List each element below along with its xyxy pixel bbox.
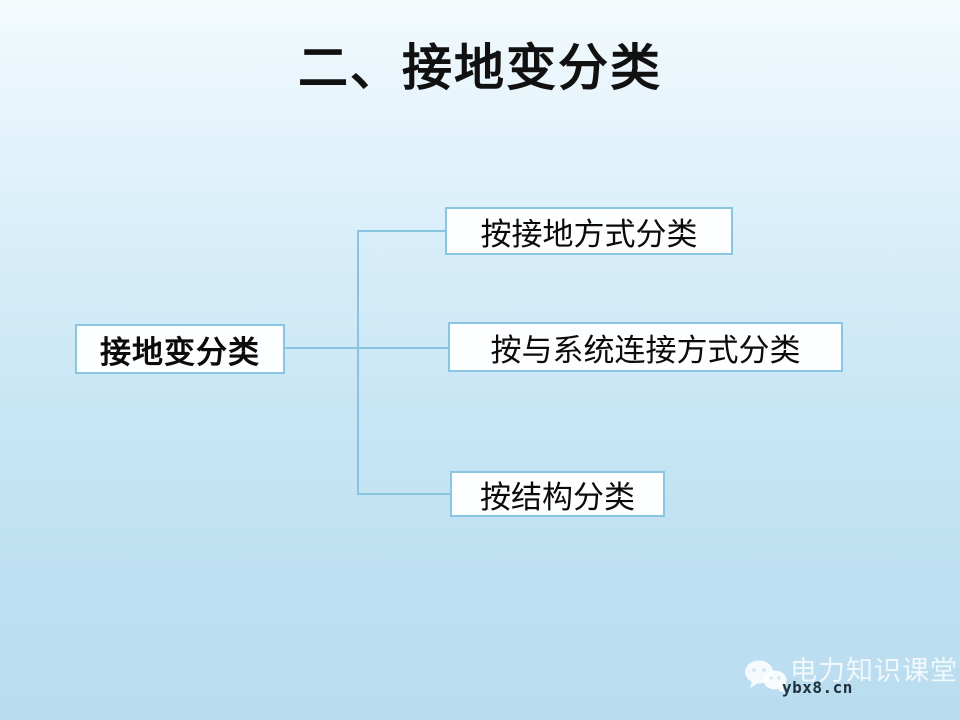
tree-node-child-2: 按与系统连接方式分类 — [448, 322, 843, 372]
slide-canvas: 二、接地变分类 接地变分类 按接地方式分类 按与系统连接方式分类 按结构分类 电… — [0, 0, 960, 720]
connector-branch-3 — [357, 493, 452, 495]
watermark: 电力知识课堂 ybx8.cn — [744, 652, 960, 704]
tree-node-child-1: 按接地方式分类 — [445, 207, 733, 255]
watermark-domain-text: ybx8.cn — [782, 678, 853, 698]
connector-root-stem — [285, 347, 359, 349]
connector-branch-1 — [357, 230, 447, 232]
connector-branch-2 — [357, 347, 450, 349]
tree-node-root: 接地变分类 — [75, 324, 285, 374]
connector-vertical-trunk — [357, 230, 359, 495]
page-title: 二、接地变分类 — [0, 38, 960, 98]
tree-node-child-3: 按结构分类 — [450, 471, 665, 517]
